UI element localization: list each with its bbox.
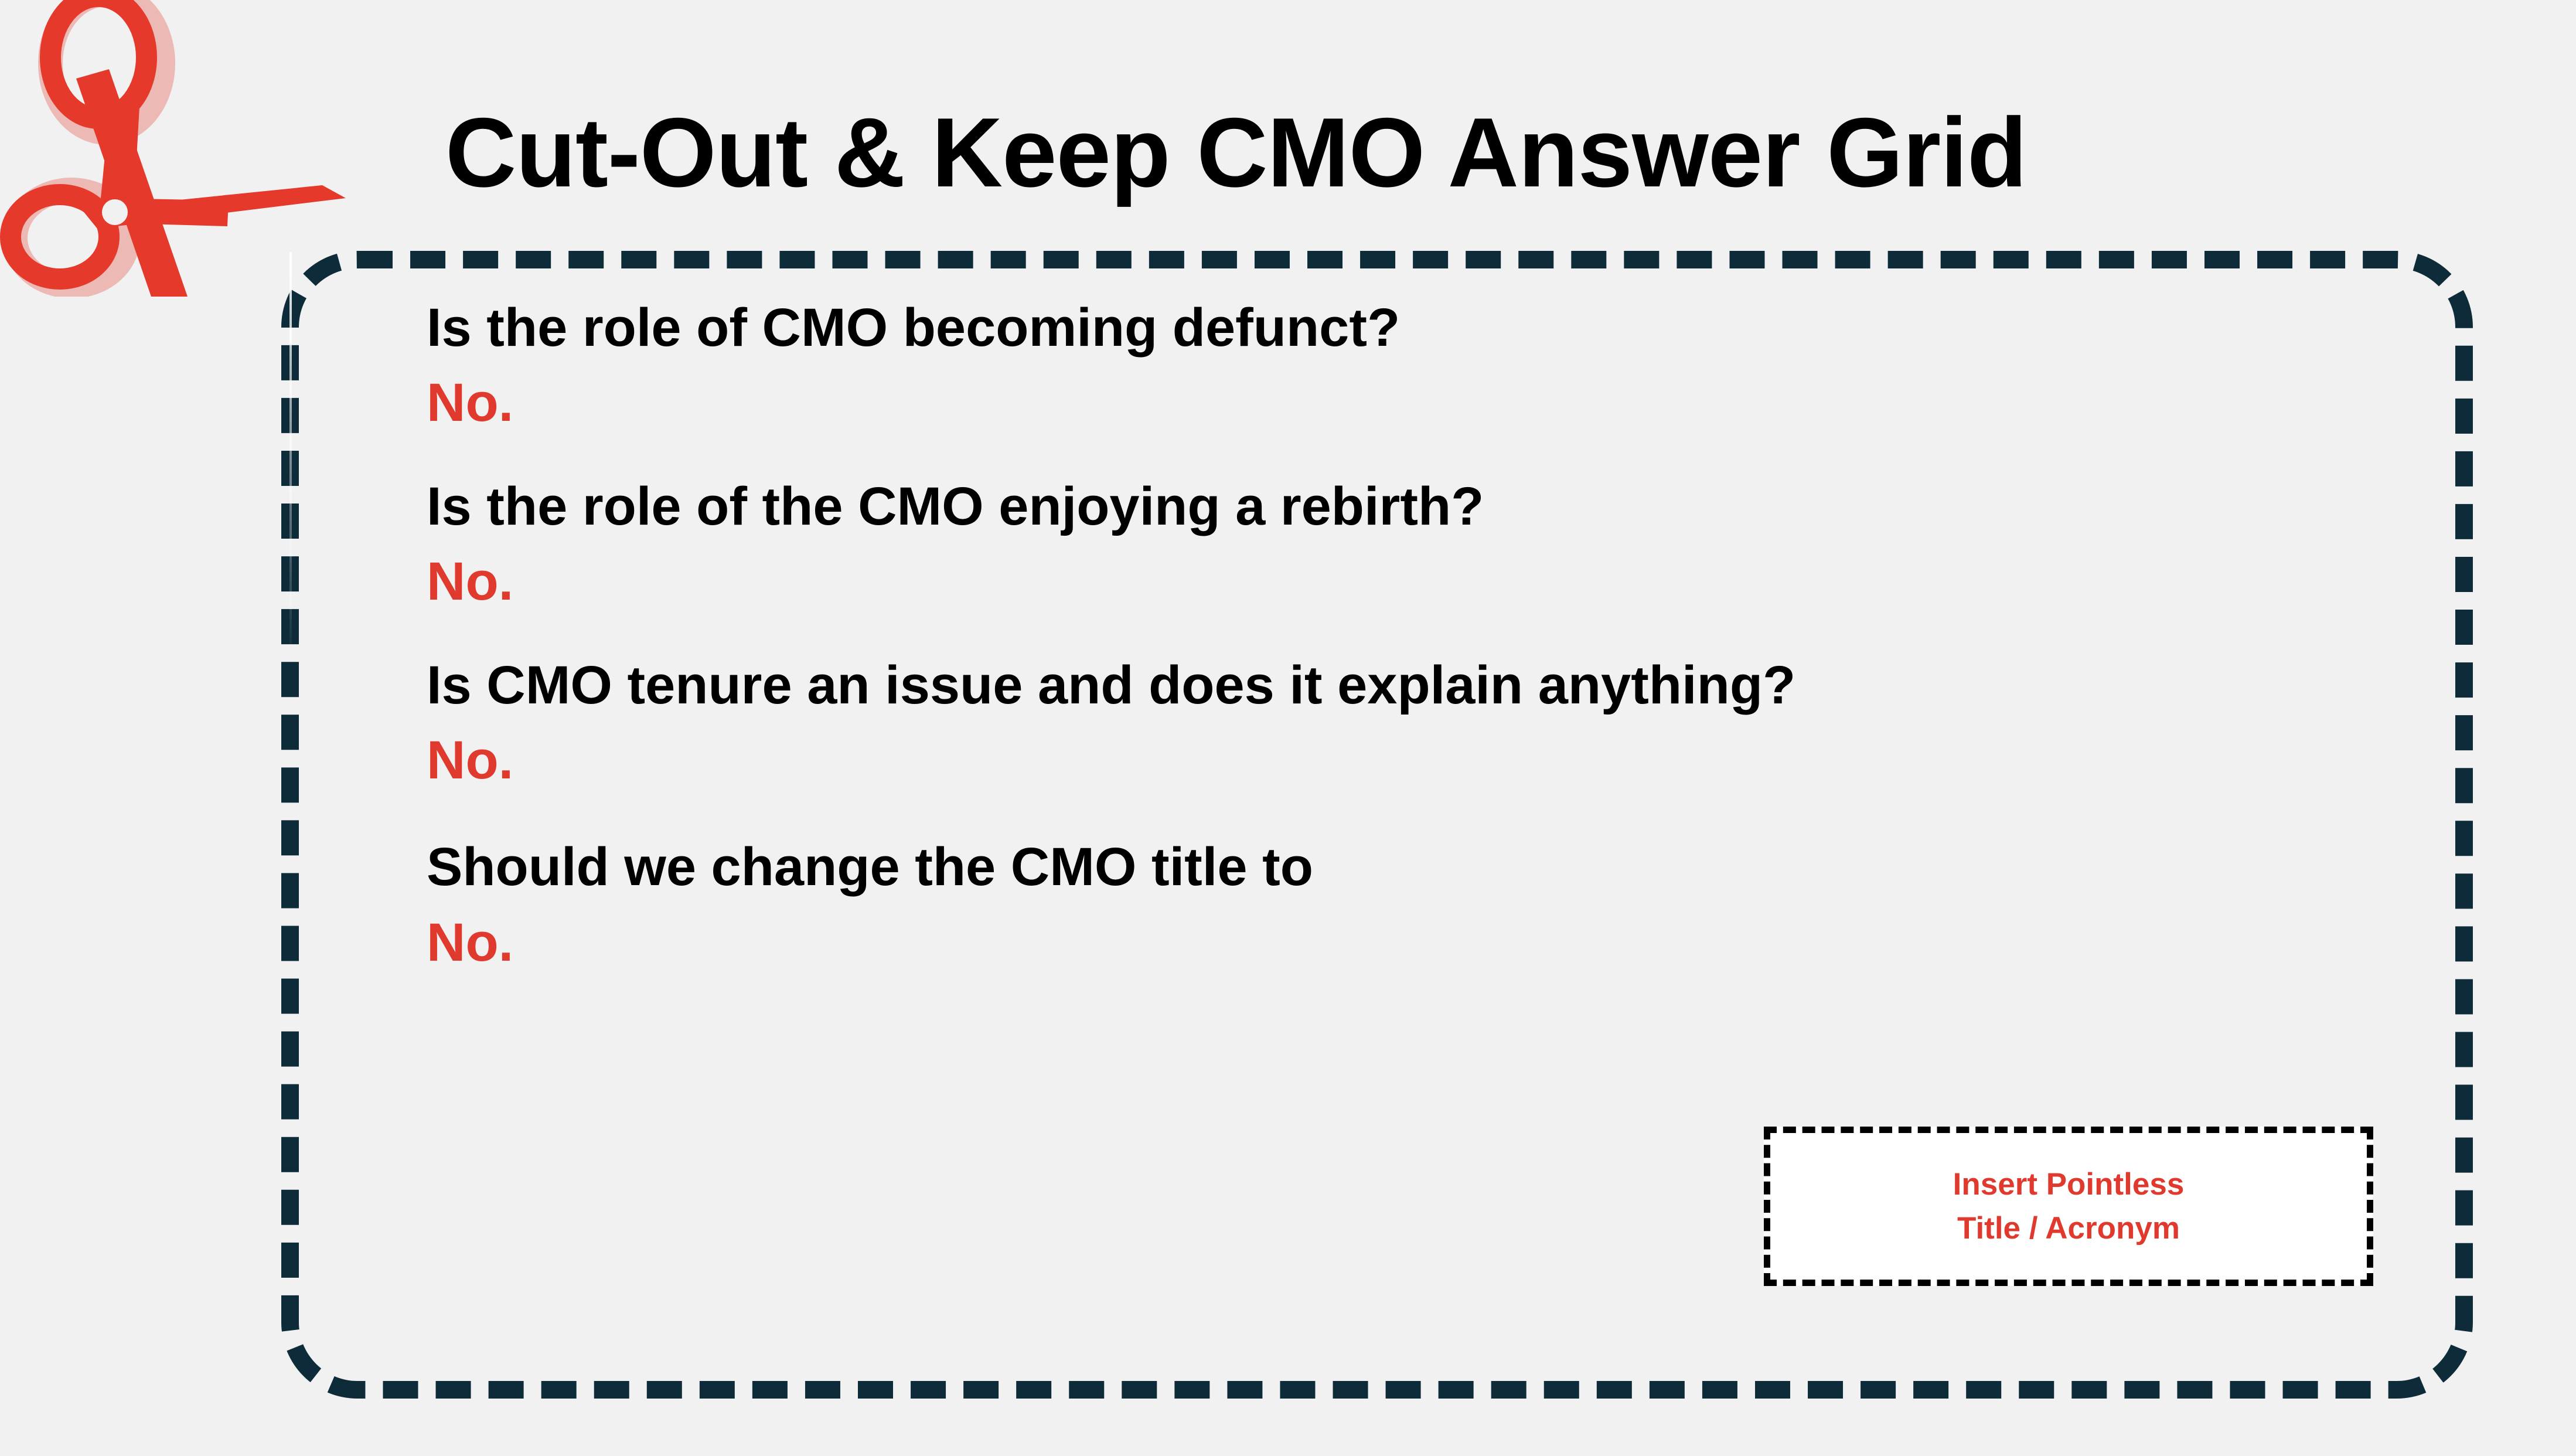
insert-placeholder-line-2: Title / Acronym [1957, 1206, 2180, 1250]
qa-question: Is the role of CMO becoming defunct? [427, 298, 2360, 358]
qa-answer: No. [427, 730, 2360, 792]
qa-question: Is CMO tenure an issue and does it expla… [427, 655, 2360, 716]
qa-list: Is the role of CMO becoming defunct? No.… [427, 298, 2360, 974]
qa-item: Should we change the CMO title to No. [427, 837, 2360, 974]
qa-answer: No. [427, 551, 2360, 613]
qa-question: Is the role of the CMO enjoying a rebirt… [427, 477, 2360, 537]
qa-answer: No. [427, 372, 2360, 434]
qa-item: Is the role of CMO becoming defunct? No. [427, 298, 2360, 434]
qa-item: Is CMO tenure an issue and does it expla… [427, 655, 2360, 792]
qa-question: Should we change the CMO title to [427, 837, 2360, 897]
qa-answer: No. [427, 912, 2360, 974]
insert-placeholder-line-1: Insert Pointless [1953, 1162, 2185, 1206]
insert-placeholder-box[interactable]: Insert Pointless Title / Acronym [1764, 1127, 2373, 1286]
page-title: Cut-Out & Keep CMO Answer Grid [445, 103, 2262, 202]
qa-item: Is the role of the CMO enjoying a rebirt… [427, 477, 2360, 613]
slide-canvas: Cut-Out & Keep CMO Answer Grid Is the ro… [0, 0, 2576, 1456]
scissors-icon [0, 0, 357, 297]
